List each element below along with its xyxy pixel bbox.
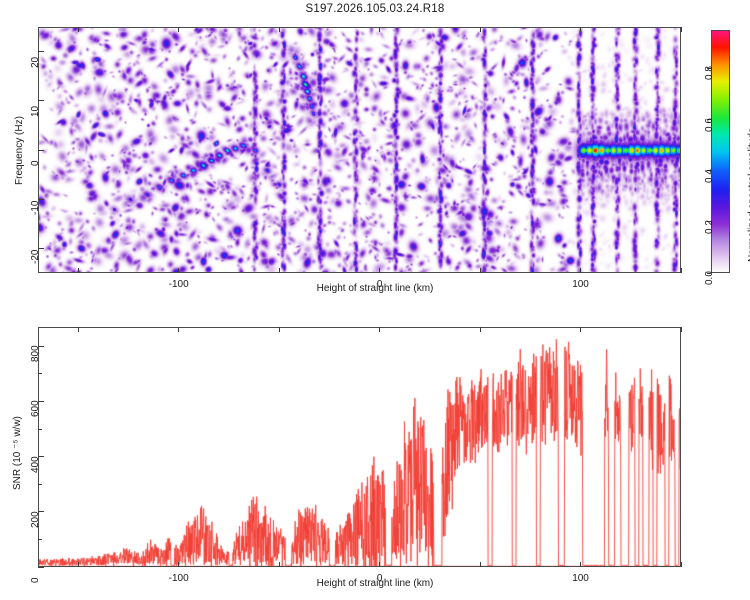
spectrogram-canvas [38, 27, 681, 273]
spectrogram-x-axis-label: Height of straight line (km) [0, 283, 750, 294]
colorbar-gradient [711, 30, 730, 273]
figure-root: S197.2026.105.03.24.R18 -1000100-20-1001… [0, 0, 750, 600]
figure-title: S197.2026.105.03.24.R18 [0, 3, 750, 15]
snr-y-axis-label: SNR (10 ⁻⁵ w/w) [12, 416, 23, 490]
snr-x-axis-label: Height of straight line (km) [0, 578, 750, 589]
spectrogram-y-axis-label: Frequency (Hz) [14, 116, 25, 185]
snr-canvas [38, 327, 681, 567]
